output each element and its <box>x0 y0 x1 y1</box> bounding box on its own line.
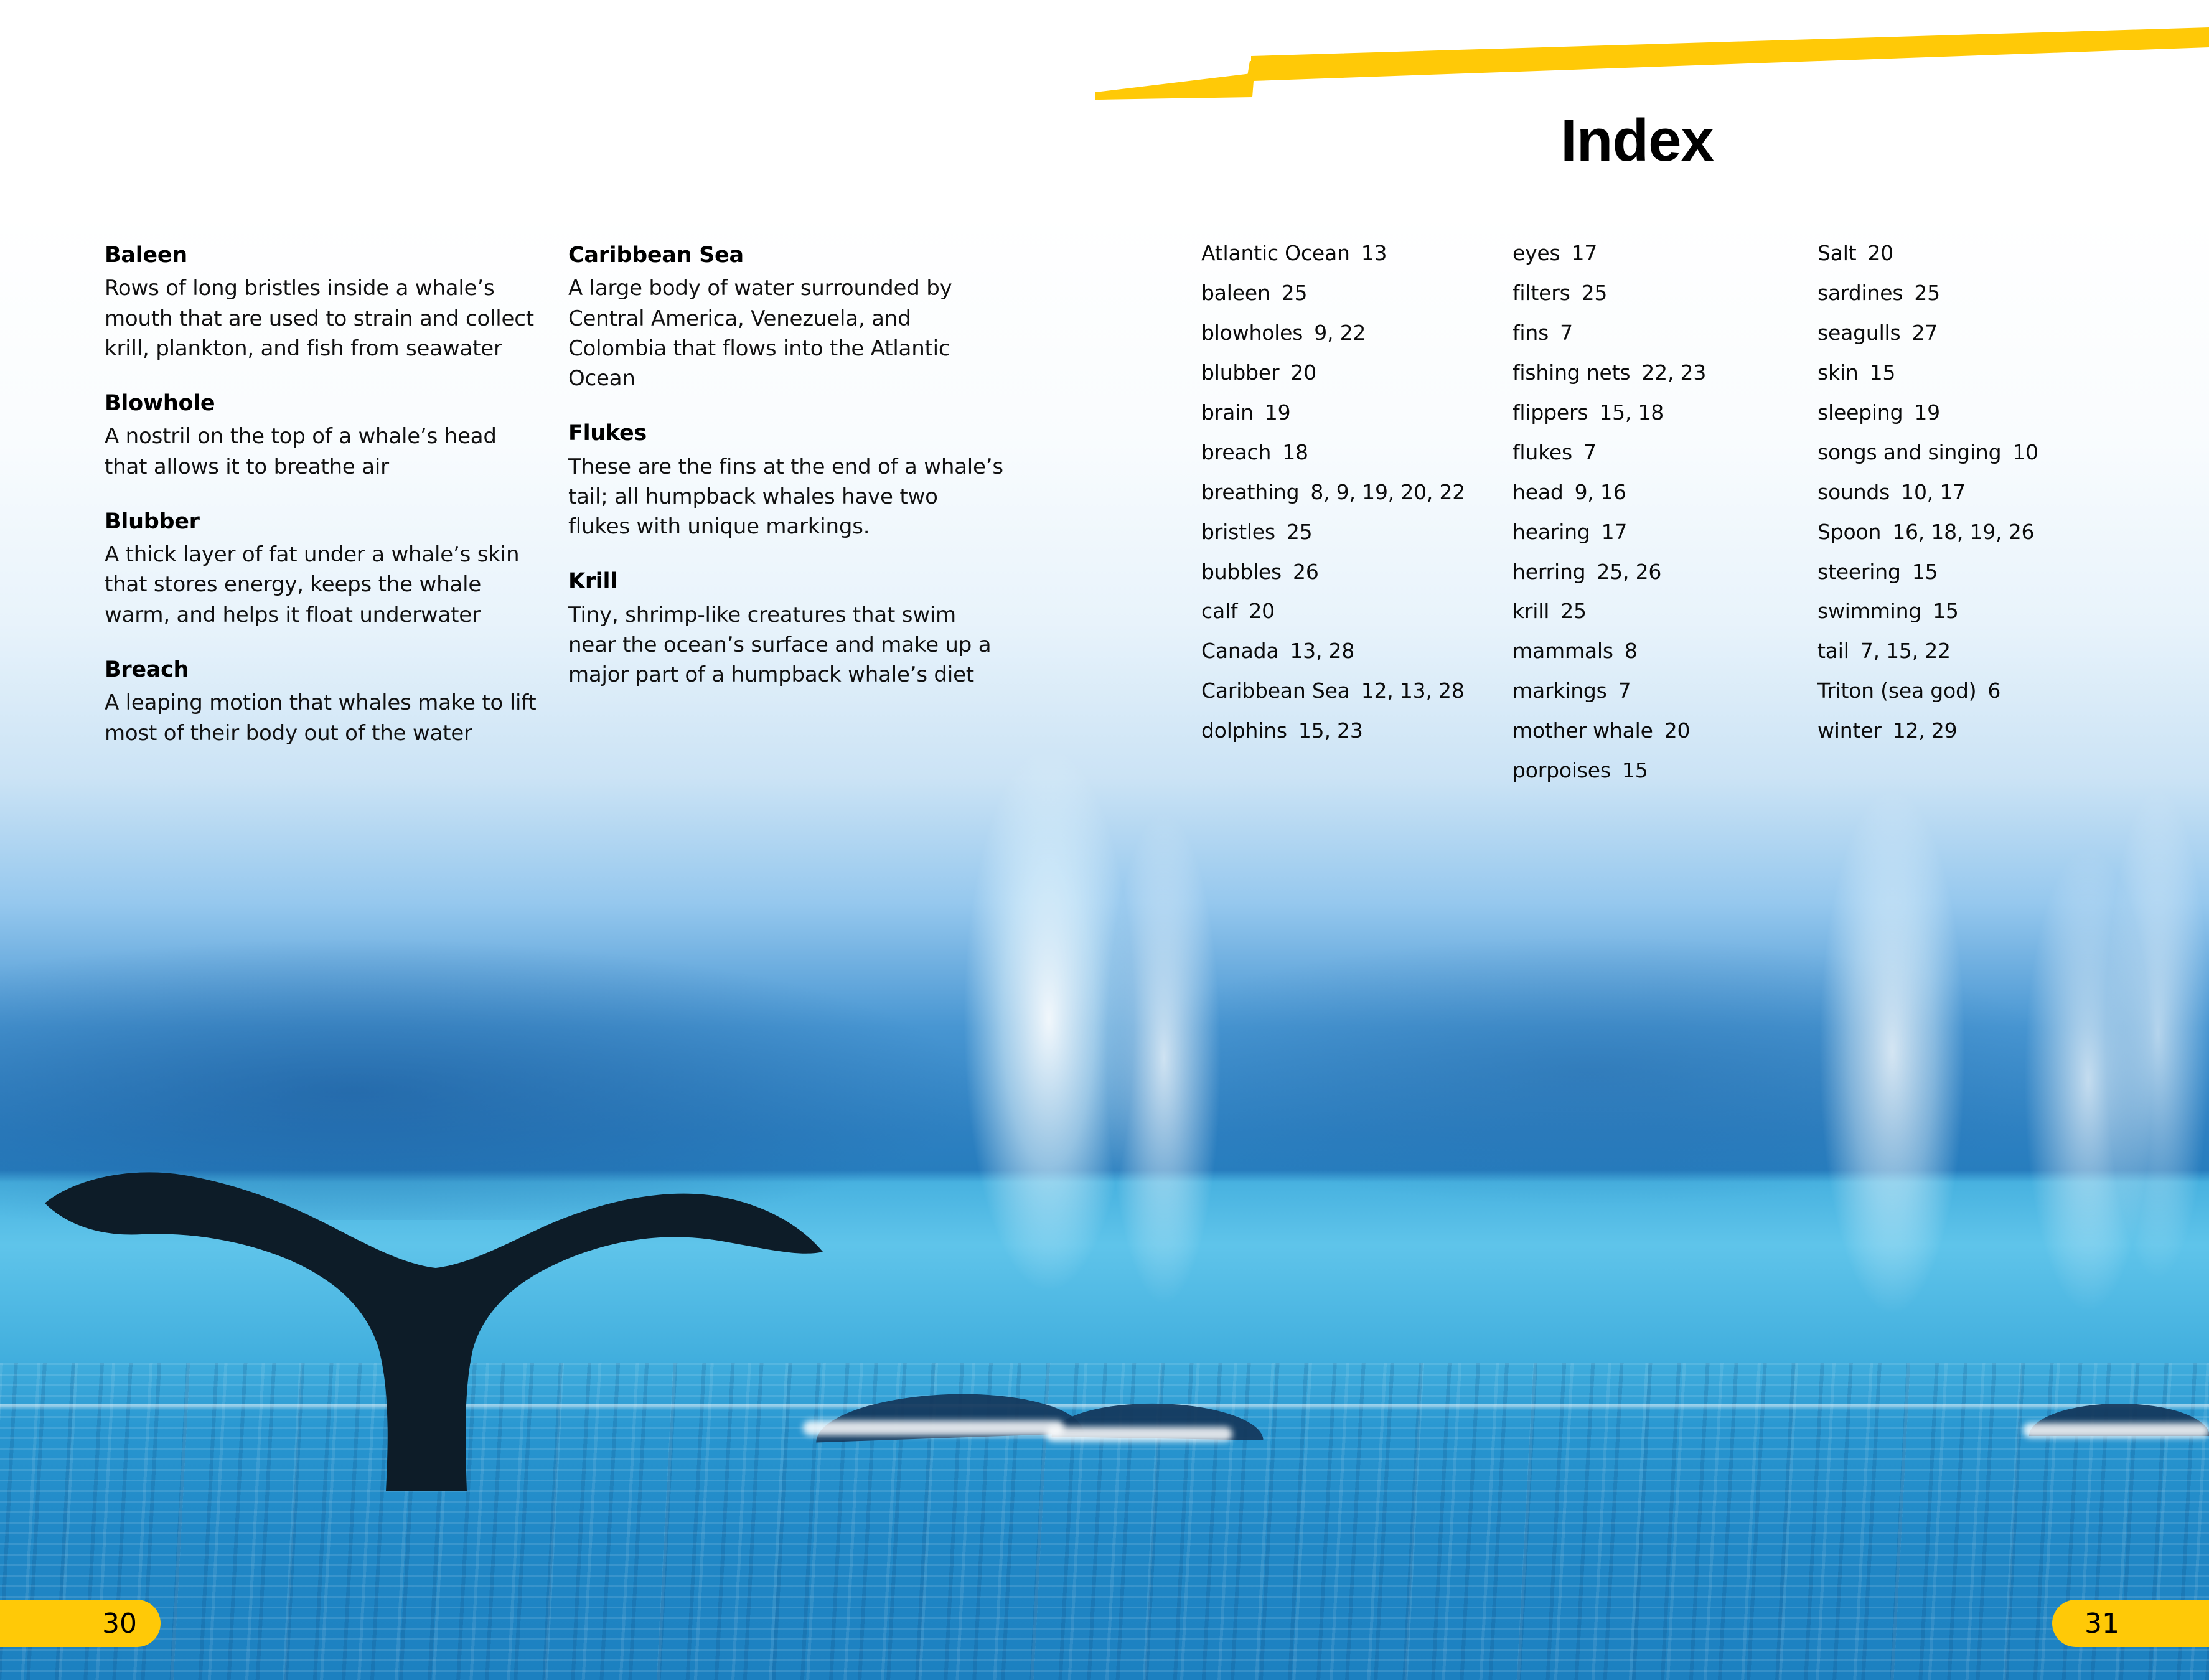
index-entry: Caribbean Sea12, 13, 28 <box>1201 679 1513 703</box>
index-term: filters <box>1513 281 1570 305</box>
index-entry: mother whale20 <box>1513 719 1817 743</box>
index-term: eyes <box>1513 241 1560 265</box>
index-page-refs: 10 <box>2012 440 2038 464</box>
index-entry: blubber20 <box>1201 361 1513 385</box>
index-term: Spoon <box>1817 520 1881 544</box>
glossary-definition: Tiny, shrimp-like creatures that swim ne… <box>568 600 1004 690</box>
index-page-refs: 6 <box>1987 678 2000 703</box>
index-page-refs: 20 <box>1867 241 1893 265</box>
index-entry: sleeping19 <box>1817 401 2141 425</box>
index-page-refs: 15, 23 <box>1298 718 1363 743</box>
index-page-refs: 20 <box>1249 599 1275 623</box>
glossary-entry: Breach A leaping motion that whales make… <box>105 657 540 748</box>
glossary-entry: Caribbean Sea A large body of water surr… <box>568 243 1004 393</box>
index-page-refs: 16, 18, 19, 26 <box>1892 520 2034 544</box>
page-number-right: 31 <box>2052 1600 2209 1647</box>
index-page-refs: 15 <box>1870 360 1896 385</box>
glossary-term: Blowhole <box>105 391 540 416</box>
index-page-refs: 15 <box>1622 758 1648 782</box>
index-term: baleen <box>1201 281 1270 305</box>
glossary-column-2: Caribbean Sea A large body of water surr… <box>568 243 1004 776</box>
index-term: brain <box>1201 400 1254 425</box>
page-title: Index <box>1444 111 1830 171</box>
index-term: swimming <box>1817 599 1921 623</box>
index-page-refs: 19 <box>1914 400 1940 425</box>
index-term: fins <box>1513 321 1549 345</box>
index-entry: calf20 <box>1201 599 1513 624</box>
index-term: Salt <box>1817 241 1856 265</box>
index-page-refs: 13 <box>1361 241 1387 265</box>
index-entry: tail7, 15, 22 <box>1817 639 2141 664</box>
index-page-refs: 18 <box>1282 440 1308 464</box>
index-page-refs: 25 <box>1287 520 1313 544</box>
index-entry: bubbles26 <box>1201 560 1513 584</box>
index-page-refs: 12, 13, 28 <box>1361 678 1465 703</box>
index-entry: head9, 16 <box>1513 481 1817 505</box>
sea-foam <box>2023 1423 2209 1438</box>
index-entry: skin15 <box>1817 361 2141 385</box>
index-column-3: Salt20sardines25seagulls27skin15sleeping… <box>1817 242 2141 799</box>
index-term: bristles <box>1201 520 1275 544</box>
index-page-refs: 13, 28 <box>1290 639 1354 663</box>
index-entry: eyes17 <box>1513 242 1817 266</box>
index-term: sleeping <box>1817 400 1903 425</box>
glossary-entry: Krill Tiny, shrimp-like creatures that s… <box>568 569 1004 690</box>
glossary-definition: A leaping motion that whales make to lif… <box>105 688 540 748</box>
glossary-term: Caribbean Sea <box>568 243 1004 268</box>
index-term: herring <box>1513 560 1585 584</box>
index-page-refs: 25 <box>1582 281 1608 305</box>
index-entry: brain19 <box>1201 401 1513 425</box>
index-page-refs: 26 <box>1293 560 1319 584</box>
index-term: Caribbean Sea <box>1201 678 1350 703</box>
glossary-definition: A nostril on the top of a whale’s head t… <box>105 421 540 482</box>
index-entry: porpoises15 <box>1513 759 1817 783</box>
index-entry: dolphins15, 23 <box>1201 719 1513 743</box>
index-entry: Canada13, 28 <box>1201 639 1513 664</box>
index-entry: seagulls27 <box>1817 321 2141 345</box>
index-page-refs: 15, 18 <box>1599 400 1664 425</box>
index-term: markings <box>1513 678 1607 703</box>
yellow-accent-ribbon <box>1095 19 2209 100</box>
index-term: songs and singing <box>1817 440 2001 464</box>
index-page-refs: 10, 17 <box>1901 480 1966 504</box>
index-page-refs: 25 <box>1914 281 1940 305</box>
index-list: Atlantic Ocean13baleen25blowholes9, 22bl… <box>1201 242 2160 799</box>
index-term: flukes <box>1513 440 1572 464</box>
index-page-refs: 12, 29 <box>1893 718 1958 743</box>
index-entry: bristles25 <box>1201 520 1513 545</box>
index-page-refs: 20 <box>1290 360 1316 385</box>
index-entry: Spoon16, 18, 19, 26 <box>1817 520 2141 545</box>
index-entry: fishing nets22, 23 <box>1513 361 1817 385</box>
index-entry: sardines25 <box>1817 281 2141 306</box>
index-entry: herring25, 26 <box>1513 560 1817 584</box>
glossary-definition: These are the fins at the end of a whale… <box>568 452 1004 542</box>
index-term: winter <box>1817 718 1882 743</box>
index-page-refs: 9, 16 <box>1575 480 1626 504</box>
index-page-refs: 19 <box>1265 400 1291 425</box>
index-entry: breach18 <box>1201 441 1513 465</box>
index-page-refs: 7, 15, 22 <box>1860 639 1951 663</box>
index-page-refs: 15 <box>1933 599 1959 623</box>
index-entry: markings7 <box>1513 679 1817 703</box>
index-term: Triton (sea god) <box>1817 678 1976 703</box>
index-entry: breathing8, 9, 19, 20, 22 <box>1201 481 1513 505</box>
index-entry: flukes7 <box>1513 441 1817 465</box>
index-entry: Triton (sea god)6 <box>1817 679 2141 703</box>
index-term: calf <box>1201 599 1237 623</box>
index-page-refs: 7 <box>1560 321 1573 345</box>
index-term: steering <box>1817 560 1901 584</box>
index-page-refs: 25, 26 <box>1597 560 1661 584</box>
index-term: seagulls <box>1817 321 1901 345</box>
page-spread: Index Baleen Rows of long bristles insid… <box>0 0 2209 1680</box>
index-column-1: Atlantic Ocean13baleen25blowholes9, 22bl… <box>1201 242 1513 799</box>
index-entry: swimming15 <box>1817 599 2141 624</box>
index-term: skin <box>1817 360 1859 385</box>
index-page-refs: 27 <box>1912 321 1938 345</box>
index-term: porpoises <box>1513 758 1611 782</box>
index-term: tail <box>1817 639 1849 663</box>
index-term: breathing <box>1201 480 1299 504</box>
glossary-entry: Baleen Rows of long bristles inside a wh… <box>105 243 540 364</box>
index-page-refs: 7 <box>1583 440 1597 464</box>
index-term: flippers <box>1513 400 1588 425</box>
index-page-refs: 8, 9, 19, 20, 22 <box>1310 480 1465 504</box>
index-entry: steering15 <box>1817 560 2141 584</box>
sea-foam <box>1046 1427 1232 1442</box>
glossary-term: Baleen <box>105 243 540 268</box>
glossary-definition: A large body of water surrounded by Cent… <box>568 273 1004 393</box>
index-term: dolphins <box>1201 718 1287 743</box>
index-term: fishing nets <box>1513 360 1630 385</box>
index-entry: blowholes9, 22 <box>1201 321 1513 345</box>
glossary-term: Krill <box>568 569 1004 594</box>
index-entry: filters25 <box>1513 281 1817 306</box>
index-page-refs: 15 <box>1912 560 1938 584</box>
index-term: Canada <box>1201 639 1278 663</box>
index-term: sounds <box>1817 480 1890 504</box>
glossary-entry: Blubber A thick layer of fat under a wha… <box>105 509 540 630</box>
index-term: blubber <box>1201 360 1279 385</box>
glossary-term: Flukes <box>568 421 1004 446</box>
index-term: mammals <box>1513 639 1613 663</box>
page-number-left: 30 <box>0 1600 161 1647</box>
index-term: sardines <box>1817 281 1903 305</box>
index-term: hearing <box>1513 520 1590 544</box>
index-entry: flippers15, 18 <box>1513 401 1817 425</box>
index-term: Atlantic Ocean <box>1201 241 1350 265</box>
index-entry: krill25 <box>1513 599 1817 624</box>
glossary-definition: Rows of long bristles inside a whale’s m… <box>105 273 540 364</box>
index-page-refs: 7 <box>1618 678 1631 703</box>
glossary-column-1: Baleen Rows of long bristles inside a wh… <box>105 243 540 776</box>
index-entry: fins7 <box>1513 321 1817 345</box>
index-page-refs: 17 <box>1572 241 1598 265</box>
index-page-refs: 9, 22 <box>1314 321 1366 345</box>
index-term: bubbles <box>1201 560 1282 584</box>
glossary-definition: A thick layer of fat under a whale’s ski… <box>105 540 540 630</box>
glossary-entry: Flukes These are the fins at the end of … <box>568 421 1004 542</box>
index-entry: songs and singing10 <box>1817 441 2141 465</box>
index-page-refs: 20 <box>1664 718 1691 743</box>
index-term: blowholes <box>1201 321 1303 345</box>
index-entry: Atlantic Ocean13 <box>1201 242 1513 266</box>
glossary-entry: Blowhole A nostril on the top of a whale… <box>105 391 540 482</box>
index-entry: Salt20 <box>1817 242 2141 266</box>
index-page-refs: 8 <box>1625 639 1638 663</box>
index-term: mother whale <box>1513 718 1653 743</box>
index-page-refs: 25 <box>1560 599 1587 623</box>
glossary-term: Breach <box>105 657 540 683</box>
index-entry: hearing17 <box>1513 520 1817 545</box>
glossary: Baleen Rows of long bristles inside a wh… <box>0 243 1008 776</box>
whale-fluke-silhouette <box>37 1130 828 1491</box>
index-term: breach <box>1201 440 1271 464</box>
index-page-refs: 22, 23 <box>1641 360 1706 385</box>
index-entry: mammals8 <box>1513 639 1817 664</box>
index-term: krill <box>1513 599 1549 623</box>
index-page-refs: 25 <box>1282 281 1308 305</box>
glossary-term: Blubber <box>105 509 540 535</box>
index-page-refs: 17 <box>1602 520 1628 544</box>
index-entry: baleen25 <box>1201 281 1513 306</box>
index-entry: sounds10, 17 <box>1817 481 2141 505</box>
sea-foam <box>803 1420 1064 1435</box>
index-entry: winter12, 29 <box>1817 719 2141 743</box>
index-term: head <box>1513 480 1564 504</box>
index-column-2: eyes17filters25fins7fishing nets22, 23fl… <box>1513 242 1817 799</box>
